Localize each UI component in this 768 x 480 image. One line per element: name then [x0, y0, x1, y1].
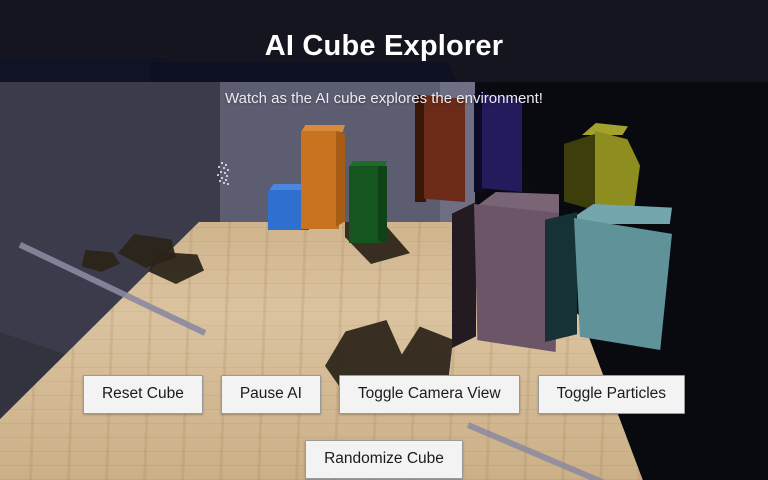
dark-red-pillar-front-face: [424, 95, 465, 202]
randomize-cube-button[interactable]: Randomize Cube: [305, 440, 463, 479]
mauve-block: [452, 192, 559, 352]
page-title: AI Cube Explorer: [0, 29, 768, 63]
particle: [227, 169, 229, 171]
orange-pillar-side-face: [336, 131, 345, 227]
particle: [225, 179, 227, 181]
pause-ai-button[interactable]: Pause AI: [221, 375, 321, 414]
scene-subtitle: Watch as the AI cube explores the enviro…: [0, 82, 768, 110]
particle: [226, 175, 228, 177]
background-box-peek-center: [150, 62, 460, 82]
teal-block-side-face: [545, 212, 577, 342]
particle: [221, 177, 223, 179]
orange-pillar-front-face: [301, 131, 339, 229]
reset-cube-button[interactable]: Reset Cube: [83, 375, 203, 414]
particle: [223, 167, 225, 169]
particle: [218, 166, 220, 168]
particle: [221, 162, 223, 164]
teal-block: [545, 204, 672, 350]
control-button-bar: Reset Cube Pause AI Toggle Camera View T…: [0, 375, 768, 479]
ai-cube-explorer-app: AI Cube Explorer: [0, 0, 768, 480]
olive-block-front-face: [595, 131, 640, 213]
olive-block-side-face: [564, 133, 598, 211]
olive-block: [564, 127, 640, 212]
toggle-particles-button[interactable]: Toggle Particles: [538, 375, 685, 414]
particle: [227, 183, 229, 185]
particle: [220, 171, 222, 173]
particle: [219, 180, 221, 182]
green-pillar-front-face: [349, 166, 381, 243]
particle: [217, 174, 219, 176]
toggle-camera-view-button[interactable]: Toggle Camera View: [339, 375, 520, 414]
particle: [225, 164, 227, 166]
green-pillar: [349, 166, 387, 243]
green-pillar-side-face: [378, 166, 387, 241]
particle-cluster: [216, 162, 232, 186]
dark-red-pillar: [415, 95, 465, 202]
teal-block-front-face: [574, 218, 672, 350]
page-header: AI Cube Explorer: [0, 0, 768, 82]
orange-pillar: [301, 131, 345, 229]
particle: [224, 172, 226, 174]
particle: [223, 182, 225, 184]
mauve-block-side-face: [452, 202, 476, 348]
